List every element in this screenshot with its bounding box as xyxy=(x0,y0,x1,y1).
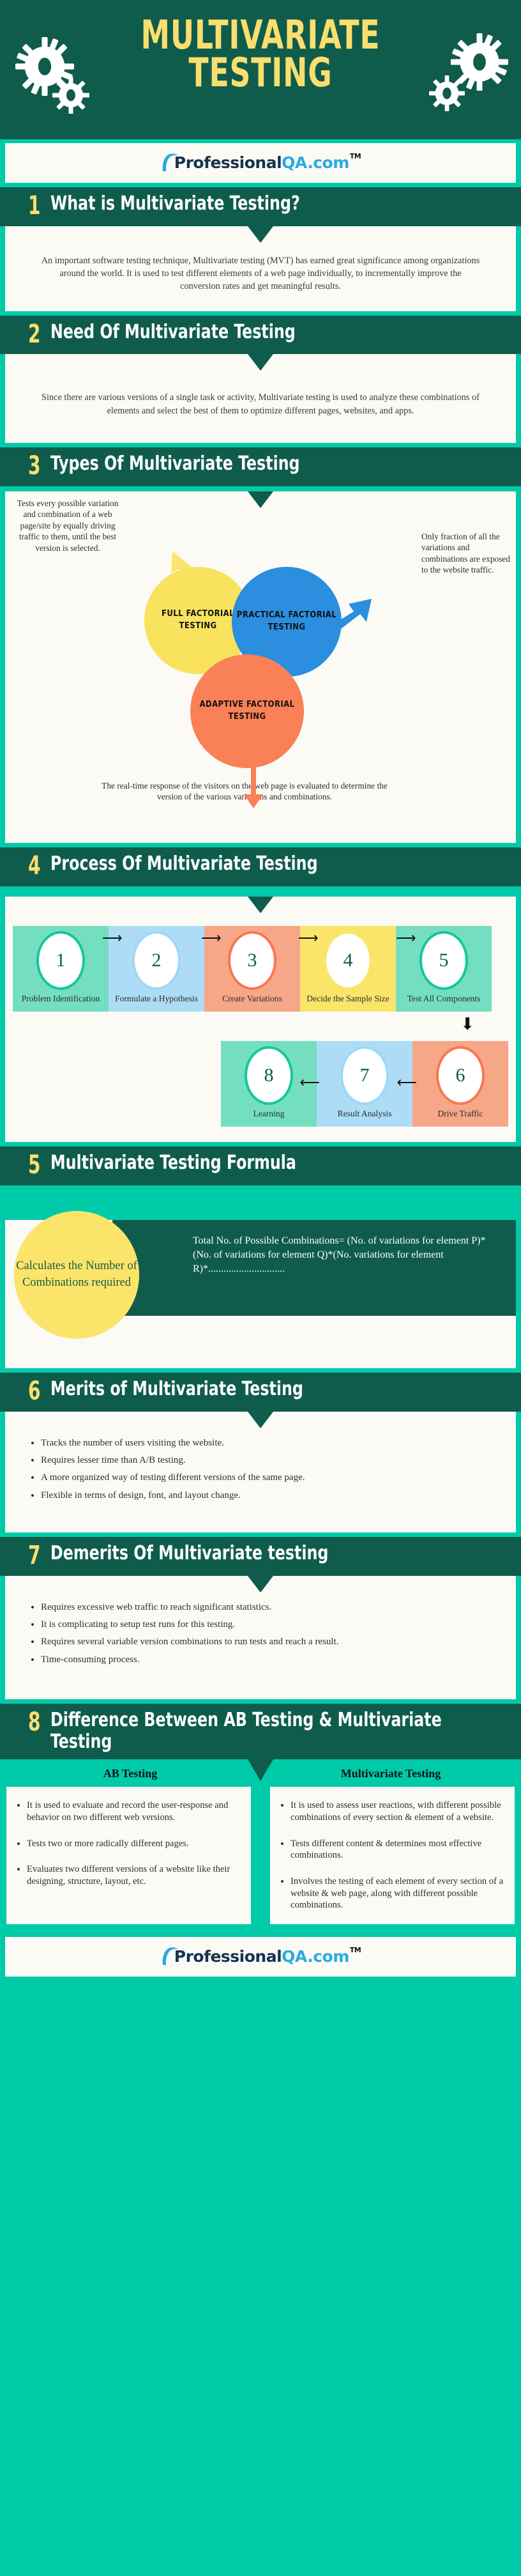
process-step-6[interactable]: 6 Drive Traffic xyxy=(412,1041,508,1127)
arrow-right-icon: ⟶ xyxy=(201,931,222,945)
step-number: 3 xyxy=(230,934,274,987)
section-body-3: Tests every possible variation and combi… xyxy=(5,491,516,843)
step-number: 2 xyxy=(135,934,178,987)
step-label: Create Variations xyxy=(207,994,298,1004)
arrow-right-icon: ⟶ xyxy=(102,931,123,945)
list-item: It is used to evaluate and record the us… xyxy=(27,1800,241,1823)
section-paragraph: Since there are various versions of a si… xyxy=(22,366,499,424)
section-title: Difference Between AB Testing & Multivar… xyxy=(50,1709,448,1752)
step-number: 6 xyxy=(439,1049,482,1102)
swoosh-arc-icon xyxy=(160,153,177,173)
section-number: 6 xyxy=(28,1378,39,1405)
section-number: 5 xyxy=(28,1152,39,1178)
list-item: Requires several variable version combin… xyxy=(41,1633,499,1651)
arrow-right-icon: ⟶ xyxy=(298,931,319,945)
formula-label-oval: Calculates the Number of Combinations re… xyxy=(14,1211,139,1339)
section-body-6: Tracks the number of users visiting the … xyxy=(5,1412,516,1532)
notch-triangle-icon xyxy=(248,1759,273,1781)
section-number: 8 xyxy=(28,1709,39,1736)
logo-bar-footer: Professional QA.com TM xyxy=(5,1937,516,1977)
section-header-5: 5 Multivariate Testing Formula xyxy=(0,1146,521,1185)
hero-title-line2: TESTING xyxy=(47,54,474,92)
comparison-col-multivariate-testing: It is used to assess user reactions, wit… xyxy=(270,1787,515,1924)
section-header-4: 4 Process Of Multivariate Testing xyxy=(0,847,521,886)
section-header-6: 6 Merits of Multivariate Testing xyxy=(0,1373,521,1412)
list-item: Flexible in terms of design, font, and l… xyxy=(41,1487,499,1504)
comparison-col1-header: AB Testing xyxy=(0,1767,260,1787)
section-title: What is Multivariate Testing? xyxy=(50,193,300,215)
notch-triangle-icon xyxy=(248,1576,273,1593)
arrow-left-icon: ⟵ xyxy=(396,1076,417,1090)
arrow-left-icon: ⟵ xyxy=(299,1076,320,1090)
list-item: Involves the testing of each element of … xyxy=(291,1876,504,1911)
venn-diagram: Tests every possible variation and combi… xyxy=(5,491,516,837)
comparison-col2-header: Multivariate Testing xyxy=(260,1767,521,1787)
list-item: Tests two or more radically different pa… xyxy=(27,1838,241,1850)
process-step-2[interactable]: 2 Formulate a Hypothesis xyxy=(109,926,204,1012)
section-number: 4 xyxy=(28,853,39,879)
section-paragraph: An important software testing technique,… xyxy=(22,238,499,300)
section-body-7: Requires excessive web traffic to reach … xyxy=(5,1576,516,1699)
section-body-1: An important software testing technique,… xyxy=(5,226,516,311)
comparison-col-ab-testing: It is used to evaluate and record the us… xyxy=(6,1787,251,1924)
section-body-2: Since there are various versions of a si… xyxy=(5,354,516,443)
arrow-down-icon: ⬇ xyxy=(460,1015,474,1032)
logo-bar-top: Professional QA.com TM xyxy=(5,143,516,183)
section-header-1: 1 What is Multivariate Testing? xyxy=(0,187,521,226)
swoosh-arc-icon xyxy=(160,1947,177,1966)
list-item: Tests different content & determines mos… xyxy=(291,1838,504,1862)
step-number: 4 xyxy=(326,934,370,987)
section-title: Multivariate Testing Formula xyxy=(50,1152,296,1174)
step-label: Problem Identification xyxy=(15,994,106,1004)
section-header-3: 3 Types Of Multivariate Testing xyxy=(0,447,521,486)
section-title: Process Of Multivariate Testing xyxy=(50,853,318,875)
notch-triangle-icon xyxy=(248,1412,273,1428)
infographic-page: MULTIVARIATE TESTING Professional QA.com… xyxy=(0,0,521,1977)
section-number: 3 xyxy=(28,453,39,479)
step-label: Result Analysis xyxy=(319,1109,410,1119)
section-body-4: 1 Problem Identification ⟶ 2 Formulate a… xyxy=(5,897,516,1143)
step-number: 7 xyxy=(343,1049,386,1102)
brand-logo[interactable]: Professional QA.com TM xyxy=(160,1947,361,1966)
section-body-8: AB Testing Multivariate Testing It is us… xyxy=(0,1759,521,1933)
brand-name-blue: QA.com xyxy=(282,153,349,172)
formula-oval-text: Calculates the Number of Combinations re… xyxy=(14,1258,139,1292)
venn-circle-label: PRACTICAL FACTORIAL TESTING xyxy=(232,610,342,634)
section-header-2: 2 Need Of Multivariate Testing xyxy=(0,316,521,355)
step-number: 8 xyxy=(247,1049,291,1102)
formula-block: Total No. of Possible Combinations= (No.… xyxy=(5,1220,516,1343)
brand-name-blue: QA.com xyxy=(282,1947,349,1966)
step-label: Decide the Sample Size xyxy=(303,994,393,1004)
brand-logo[interactable]: Professional QA.com TM xyxy=(160,153,361,173)
arrow-down-icon xyxy=(243,765,264,813)
section-title: Types Of Multivariate Testing xyxy=(50,453,300,475)
venn-circle-label: ADAPTIVE FACTORIAL TESTING xyxy=(190,699,304,723)
page-title: MULTIVARIATE TESTING xyxy=(47,17,474,92)
list-item: Evaluates two different versions of a we… xyxy=(27,1863,241,1887)
arrow-right-icon: ⟶ xyxy=(396,931,416,945)
spacer xyxy=(0,1924,521,1933)
process-step-1[interactable]: 1 Problem Identification xyxy=(13,926,109,1012)
comparison-body-row: It is used to evaluate and record the us… xyxy=(0,1787,521,1924)
formula-text: Total No. of Possible Combinations= (No.… xyxy=(112,1220,516,1316)
step-number: 1 xyxy=(39,934,82,987)
list-item: Requires excessive web traffic to reach … xyxy=(41,1599,499,1616)
step-number: 5 xyxy=(422,934,465,987)
list-item: A more organized way of testing differen… xyxy=(41,1469,499,1486)
venn-note-left: Tests every possible variation and combi… xyxy=(11,498,124,553)
section-header-7: 7 Demerits Of Multivariate testing xyxy=(0,1537,521,1576)
trademark-symbol: TM xyxy=(350,1946,361,1954)
section-title: Merits of Multivariate Testing xyxy=(50,1378,303,1400)
list-item: It is used to assess user reactions, wit… xyxy=(291,1800,504,1823)
process-row-2: ⬇ 8 Learning ⟵ 7 Result Analysis ⟵ 6 Dri… xyxy=(13,1041,508,1127)
step-label: Learning xyxy=(223,1109,314,1119)
venn-circle-adaptive-factorial[interactable]: ADAPTIVE FACTORIAL TESTING xyxy=(190,654,304,768)
step-label: Drive Traffic xyxy=(415,1109,506,1119)
step-label: Formulate a Hypothesis xyxy=(111,994,202,1004)
section-title: Need Of Multivariate Testing xyxy=(50,321,296,343)
notch-triangle-icon xyxy=(248,226,273,243)
notch-triangle-icon xyxy=(248,354,273,371)
list-item: Tracks the number of users visiting the … xyxy=(41,1435,499,1452)
brand-name-dark: Professional xyxy=(174,153,282,172)
section-number: 1 xyxy=(28,193,39,219)
trademark-symbol: TM xyxy=(350,152,361,160)
list-item: It is complicating to setup test runs fo… xyxy=(41,1616,499,1633)
list-item: Time-consuming process. xyxy=(41,1651,499,1669)
section-header-8: 8 Difference Between AB Testing & Multiv… xyxy=(0,1704,521,1759)
section-number: 7 xyxy=(28,1543,39,1569)
section-title: Demerits Of Multivariate testing xyxy=(50,1543,328,1564)
venn-note-right: Only fraction of all the variations and … xyxy=(421,531,511,576)
hero-banner: MULTIVARIATE TESTING xyxy=(0,0,521,139)
section-number: 2 xyxy=(28,321,39,348)
brand-name-dark: Professional xyxy=(174,1947,282,1966)
section-body-5: Total No. of Possible Combinations= (No.… xyxy=(5,1220,516,1368)
step-label: Test All Components xyxy=(398,994,489,1004)
list-item: Requires lesser time than A/B testing. xyxy=(41,1452,499,1469)
process-row-1: 1 Problem Identification ⟶ 2 Formulate a… xyxy=(13,897,508,1012)
